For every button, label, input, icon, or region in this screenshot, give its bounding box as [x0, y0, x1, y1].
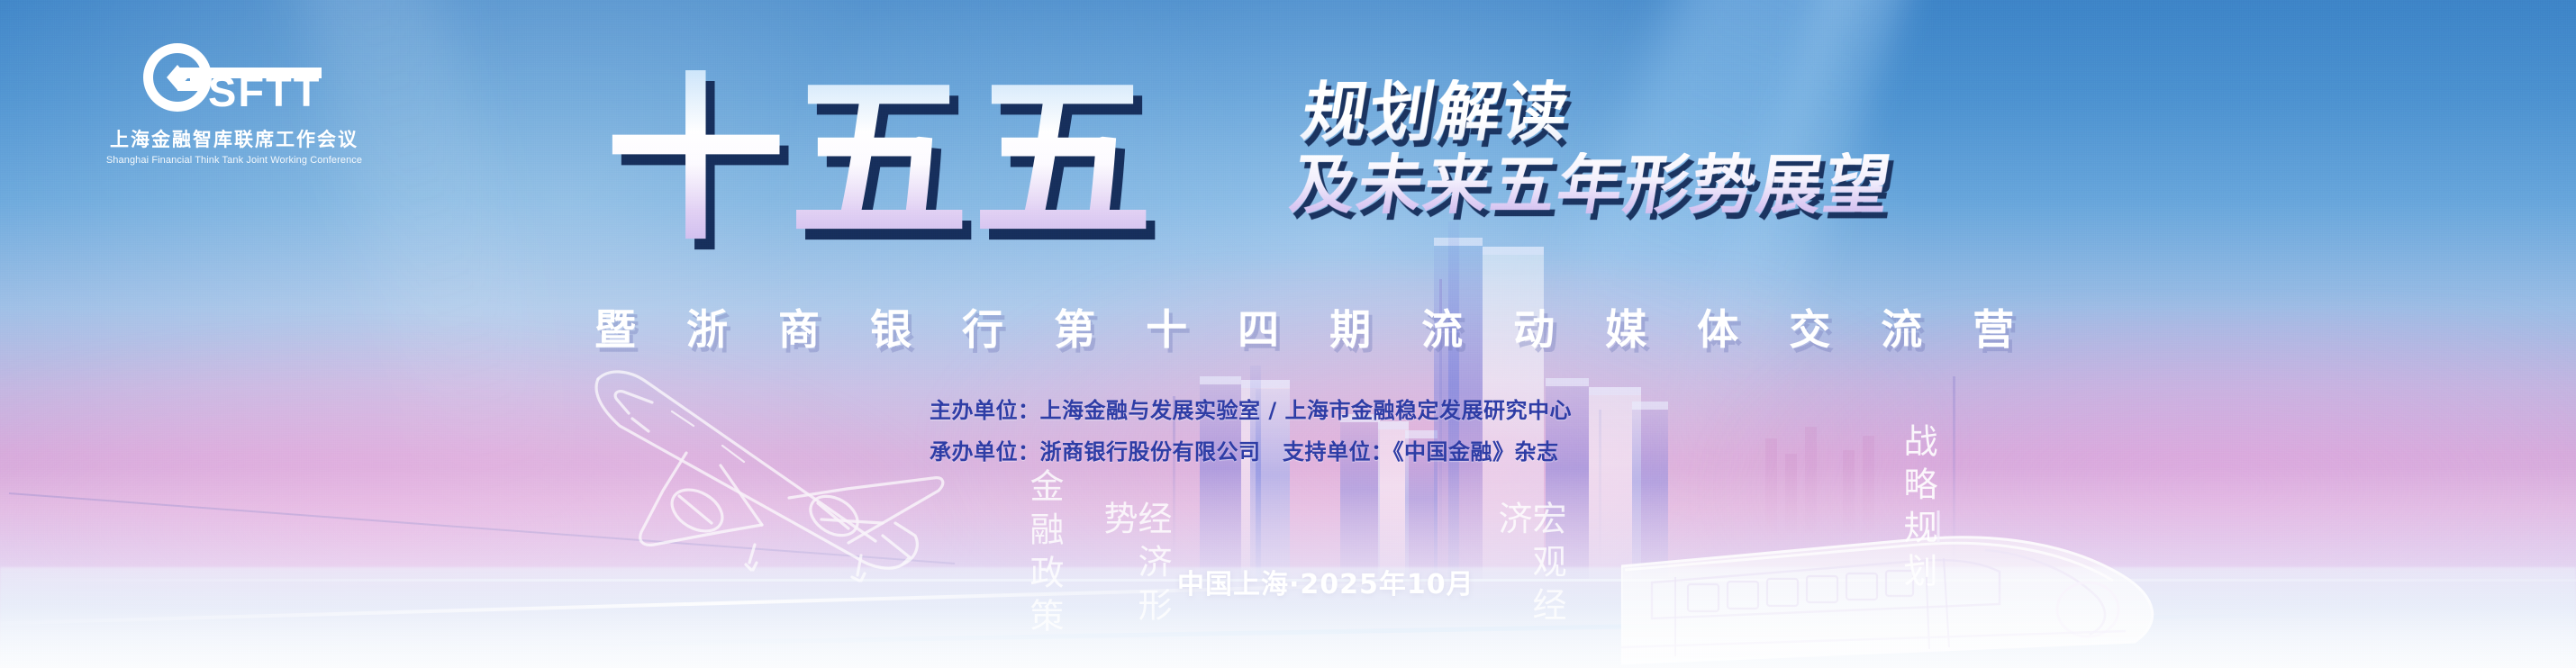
event-banner: SFTT 上海金融智库联席工作会议 Shanghai Financial Thi… — [0, 0, 2576, 668]
grain-overlay — [0, 0, 2576, 668]
